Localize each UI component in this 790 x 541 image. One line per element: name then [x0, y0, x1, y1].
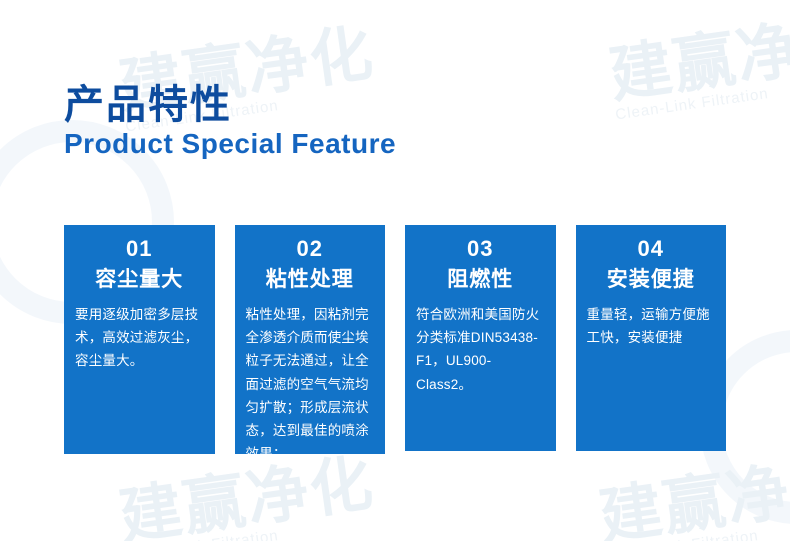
feature-card-title: 容尘量大: [75, 266, 204, 293]
page-title-cn: 产品特性: [64, 72, 232, 130]
feature-card: 03 阻燃性 符合欧洲和美国防火分类标准DIN53438-F1，UL900-Cl…: [405, 225, 556, 451]
feature-card-title: 安装便捷: [587, 266, 716, 293]
page-title-en: Product Special Feature: [64, 128, 396, 160]
feature-card-number: 03: [416, 235, 545, 264]
watermark-bottom-left: 建赢净化 Clean-Link Filtration: [116, 453, 380, 541]
feature-card: 02 粘性处理 粘性处理，因粘剂完全渗透介质而使尘埃粒子无法通过，让全面过滤的空…: [235, 225, 386, 454]
feature-card-title: 阻燃性: [416, 266, 545, 293]
feature-card-body: 要用逐级加密多层技术，高效过滤灰尘，容尘量大。: [75, 303, 204, 373]
feature-card-title: 粘性处理: [246, 266, 375, 293]
watermark-bottom-right: 建赢净化 Clean-Link Filtration: [596, 453, 790, 541]
feature-card: 04 安装便捷 重量轻，运输方便施工快，安装便捷: [576, 225, 727, 451]
feature-card: 01 容尘量大 要用逐级加密多层技术，高效过滤灰尘，容尘量大。: [64, 225, 215, 454]
feature-card-number: 01: [75, 235, 204, 264]
feature-card-list: 01 容尘量大 要用逐级加密多层技术，高效过滤灰尘，容尘量大。 02 粘性处理 …: [64, 225, 726, 454]
feature-card-number: 02: [246, 235, 375, 264]
watermark-top-right: 建赢净化 Clean-Link Filtration: [606, 11, 790, 123]
feature-card-number: 04: [587, 235, 716, 264]
feature-card-body: 粘性处理，因粘剂完全渗透介质而使尘埃粒子无法通过，让全面过滤的空气气流均匀扩散；…: [246, 303, 375, 466]
watermark-text-cn: 建赢净化: [596, 453, 790, 541]
feature-card-body: 符合欧洲和美国防火分类标准DIN53438-F1，UL900-Class2。: [416, 303, 545, 396]
feature-card-body: 重量轻，运输方便施工快，安装便捷: [587, 303, 716, 349]
product-feature-slide: 建赢净化 Clean-Link Filtration 建赢净化 Clean-Li…: [0, 0, 790, 541]
